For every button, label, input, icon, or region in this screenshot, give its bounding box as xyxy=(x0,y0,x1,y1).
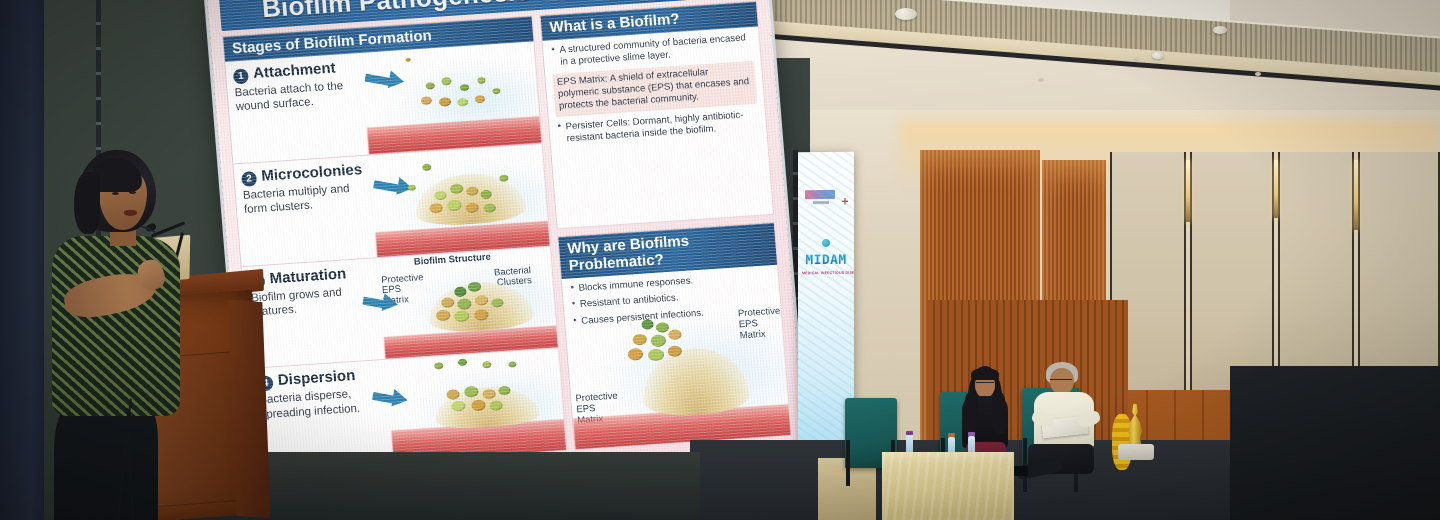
fabric-wall-panel xyxy=(1278,152,1354,392)
speaker-mouth xyxy=(124,210,137,216)
bacteria-cell xyxy=(457,298,472,310)
slide-content: Biofilm Pathogenesis and Definition Stag… xyxy=(212,0,798,478)
flow-arrow-icon xyxy=(391,389,409,409)
wall-light-gap xyxy=(1186,160,1190,222)
speaker-torso xyxy=(52,236,180,416)
hair-long xyxy=(992,392,1006,434)
dark-stage-panel xyxy=(1230,366,1440,520)
eps-matrix-highlight: EPS Matrix: A shield of extracellular po… xyxy=(552,60,757,117)
stage-illustration xyxy=(369,144,550,257)
sponsor-logo-subtext xyxy=(813,201,829,204)
wall-light-gap xyxy=(1354,160,1358,230)
glasses-icon xyxy=(976,382,994,385)
midam-tagline: MEDICAL INFECTIOUS DISEASES ANNUAL MEET xyxy=(802,271,850,276)
bacteria-cell xyxy=(491,297,504,307)
fabric-wall-panel xyxy=(1358,152,1440,392)
fabric-wall-panel xyxy=(1190,152,1274,392)
hair-front xyxy=(971,368,999,380)
podium-side-face xyxy=(228,300,270,518)
stage-name: Attachment xyxy=(252,60,336,82)
stage-description: Biofilm grows and matures. xyxy=(251,283,376,320)
panelist-right xyxy=(1032,362,1102,492)
bottle-cap xyxy=(906,431,913,435)
stage-number-badge: 1 xyxy=(233,68,249,84)
bacteria-cell xyxy=(474,308,489,320)
downlight-icon xyxy=(1038,78,1044,82)
stage-illustration: Biofilm Structure Protective EPS Matrix … xyxy=(377,246,558,359)
wall-light-gap xyxy=(1274,160,1278,218)
stage-name: Maturation xyxy=(269,265,347,287)
what-is-biofilm-panel: What is a Biofilm? A structured communit… xyxy=(540,1,775,230)
stage-illustration xyxy=(361,41,542,154)
headset-mic-icon xyxy=(140,225,155,233)
bacteria-cell xyxy=(475,294,489,305)
downlight-icon xyxy=(1133,58,1139,62)
chair-leg xyxy=(846,440,850,486)
ceiling-speaker-icon xyxy=(895,8,917,20)
presenter-speaker xyxy=(30,150,195,520)
speaker-legs xyxy=(54,402,158,520)
stage-name: Dispersion xyxy=(277,367,356,389)
medical-cross-icon xyxy=(842,198,848,205)
conference-hall-scene: Biofilm Pathogenesis and Definition Stag… xyxy=(0,0,1440,520)
bacteria-cell xyxy=(468,281,482,292)
sponsor-logo-icon xyxy=(805,190,835,199)
stage-row: 2 Microcolonies Bacteria multiply and fo… xyxy=(233,144,550,267)
marigold-garland xyxy=(1112,414,1132,470)
midam-brand-text: MIDAM xyxy=(805,253,846,268)
stage-description: Bacteria attach to the wound surface. xyxy=(234,78,359,115)
ceiling-speaker-icon xyxy=(1152,52,1164,59)
midam-dot-icon xyxy=(822,239,830,247)
why-problematic-panel: Why are Biofilms Problematic? Blocks imm… xyxy=(557,222,792,451)
diagram-label-eps-right: Protective EPS Matrix xyxy=(738,307,781,342)
stage-row: 3 Maturation Biofilm grows and matures. … xyxy=(242,246,559,369)
stage-row: 1 Attachment Bacteria attach to the woun… xyxy=(225,41,542,164)
hair-long xyxy=(964,392,978,434)
stage-illustration xyxy=(386,349,567,462)
speaker-eye xyxy=(112,192,119,195)
draped-table xyxy=(882,452,1014,520)
downlight-icon xyxy=(1255,72,1261,76)
flow-arrow-icon xyxy=(382,293,400,313)
speaker-eye xyxy=(129,191,136,194)
stage-description: Bacteria multiply and form clusters. xyxy=(242,181,367,218)
bottle-cap xyxy=(948,433,955,437)
bacteria-cell xyxy=(441,297,455,308)
stages-panel: Stages of Biofilm Formation 1 Attachment… xyxy=(222,15,568,471)
stage-description: Bacteria disperse, spreading infection. xyxy=(259,385,384,422)
stage-number-badge: 2 xyxy=(241,171,257,187)
glasses-icon xyxy=(1050,379,1072,382)
speaker-hair-side xyxy=(74,172,100,234)
bottle-cap xyxy=(968,432,975,436)
led-presentation-screen[interactable]: Biofilm Pathogenesis and Definition Stag… xyxy=(206,0,805,484)
flow-arrow-icon xyxy=(388,70,406,90)
bacteria-cell xyxy=(454,286,467,297)
lamp-pedestal xyxy=(1118,444,1154,460)
ceiling-speaker-icon xyxy=(1213,26,1227,34)
